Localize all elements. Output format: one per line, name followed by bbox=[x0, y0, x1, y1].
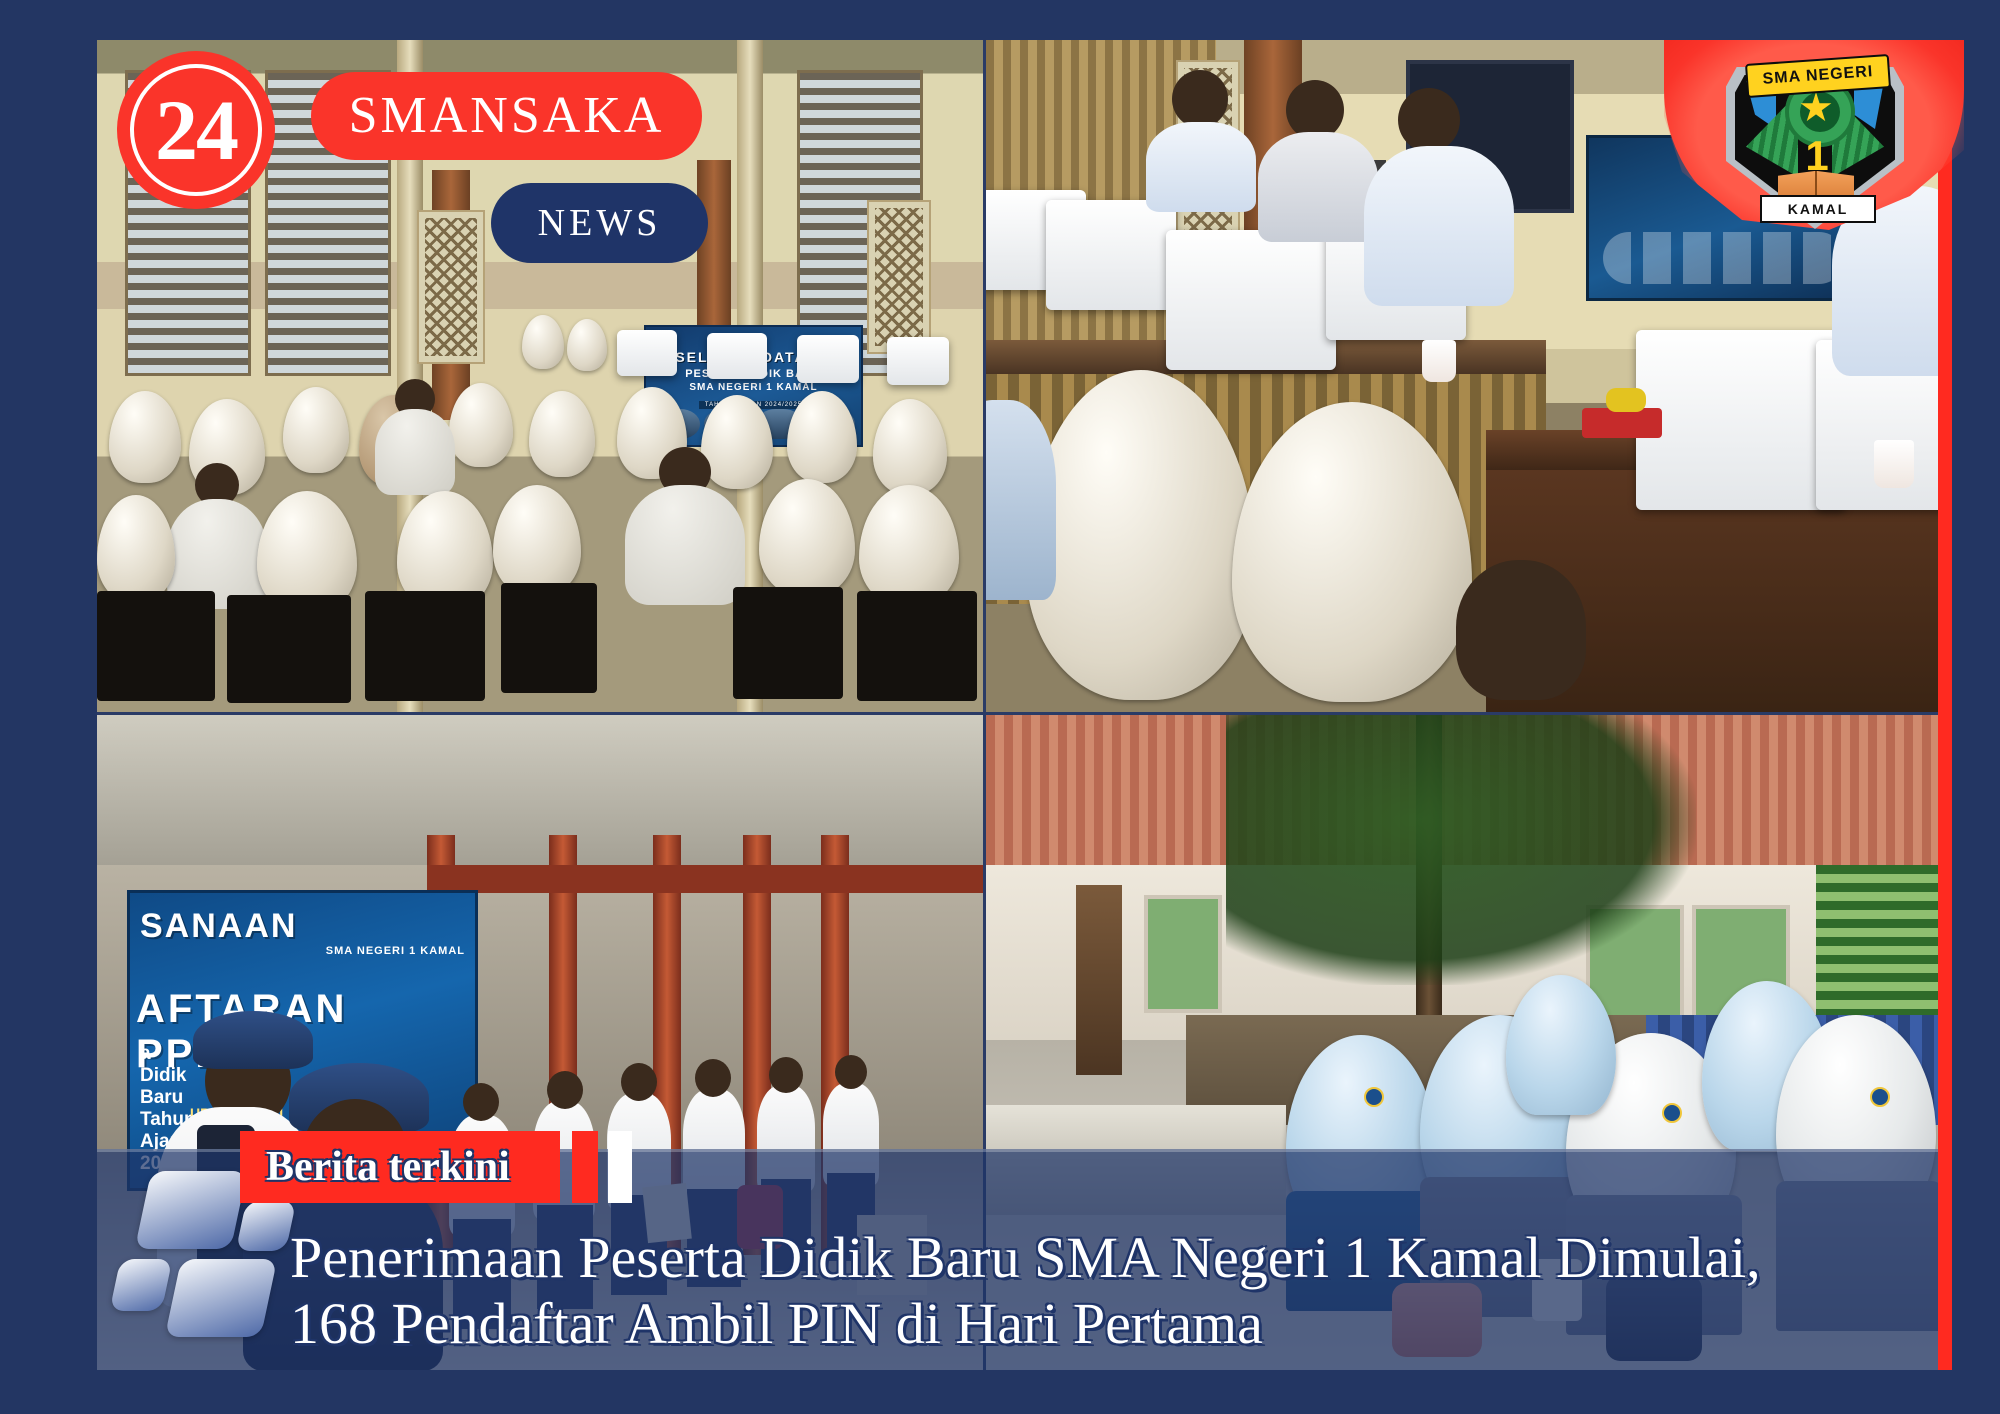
uniform-emblem bbox=[1870, 1087, 1890, 1107]
person-head bbox=[621, 1063, 657, 1101]
ppdb-line1: SANAAN bbox=[140, 907, 236, 985]
person-head bbox=[695, 1059, 731, 1097]
person-head bbox=[1398, 88, 1460, 152]
logo-bottom-ribbon: KAMAL bbox=[1760, 195, 1876, 223]
paper-cup bbox=[1422, 340, 1456, 382]
tile-shape bbox=[165, 1259, 278, 1337]
cap bbox=[193, 1011, 313, 1069]
headline-text: Penerimaan Peserta Didik Baru SMA Negeri… bbox=[290, 1225, 1850, 1357]
person-head bbox=[547, 1071, 583, 1109]
beam bbox=[427, 865, 983, 893]
hedge bbox=[1816, 865, 1952, 1015]
monitor bbox=[1046, 200, 1176, 310]
person-head bbox=[769, 1057, 803, 1093]
breaking-news-label: Berita terkini bbox=[266, 1146, 510, 1188]
collage-horizontal-divider bbox=[97, 712, 1952, 715]
window bbox=[1144, 895, 1222, 1013]
tag-tick-white bbox=[608, 1131, 632, 1203]
tile-shape bbox=[109, 1259, 172, 1311]
badge-24-circle: 24 bbox=[117, 51, 275, 209]
logo-top-ribbon-text: SMA NEGERI bbox=[1762, 63, 1874, 89]
monitor bbox=[1166, 230, 1336, 370]
school-logo: SMA NEGERI 1 KAMAL bbox=[1726, 55, 1904, 235]
yellow-object bbox=[1606, 388, 1646, 412]
person-head bbox=[835, 1055, 867, 1089]
breaking-news-tag: Berita terkini bbox=[240, 1131, 560, 1203]
tile-shape bbox=[236, 1201, 297, 1251]
staff-person bbox=[1146, 122, 1256, 212]
student-person bbox=[986, 400, 1056, 600]
red-folder bbox=[1582, 408, 1662, 438]
paper-cup bbox=[1874, 440, 1914, 488]
seated-students bbox=[97, 295, 983, 712]
person-head bbox=[1456, 560, 1586, 700]
monitor bbox=[1636, 330, 1846, 510]
person-head bbox=[463, 1083, 499, 1121]
badge-24-number: 24 bbox=[155, 87, 237, 173]
staff-person bbox=[1364, 146, 1514, 306]
door bbox=[1076, 885, 1122, 1075]
ppdb-line2: AFTARAN PPDB bbox=[136, 987, 186, 1037]
news-pill: NEWS bbox=[491, 183, 708, 263]
uniform-emblem bbox=[1662, 1103, 1682, 1123]
person-head bbox=[1286, 80, 1344, 140]
person-head bbox=[1172, 70, 1228, 128]
ppdb-school: SMA NEGERI 1 KAMAL bbox=[326, 945, 465, 957]
tile-shape bbox=[135, 1171, 248, 1249]
uniform-emblem bbox=[1364, 1087, 1384, 1107]
tag-tick-red bbox=[572, 1131, 598, 1203]
red-accent-stripe bbox=[1938, 40, 1952, 1370]
tree-canopy bbox=[1226, 715, 1696, 985]
staff-person bbox=[1258, 132, 1378, 242]
brand-pill: SMANSAKA bbox=[311, 72, 702, 160]
brand-label: SMANSAKA bbox=[349, 90, 665, 142]
news-poster: SELAMAT DATANG PESERTA DIDIK BARU SMA NE… bbox=[0, 0, 2000, 1414]
news-label: NEWS bbox=[538, 204, 662, 242]
logo-bottom-ribbon-text: KAMAL bbox=[1788, 201, 1849, 217]
